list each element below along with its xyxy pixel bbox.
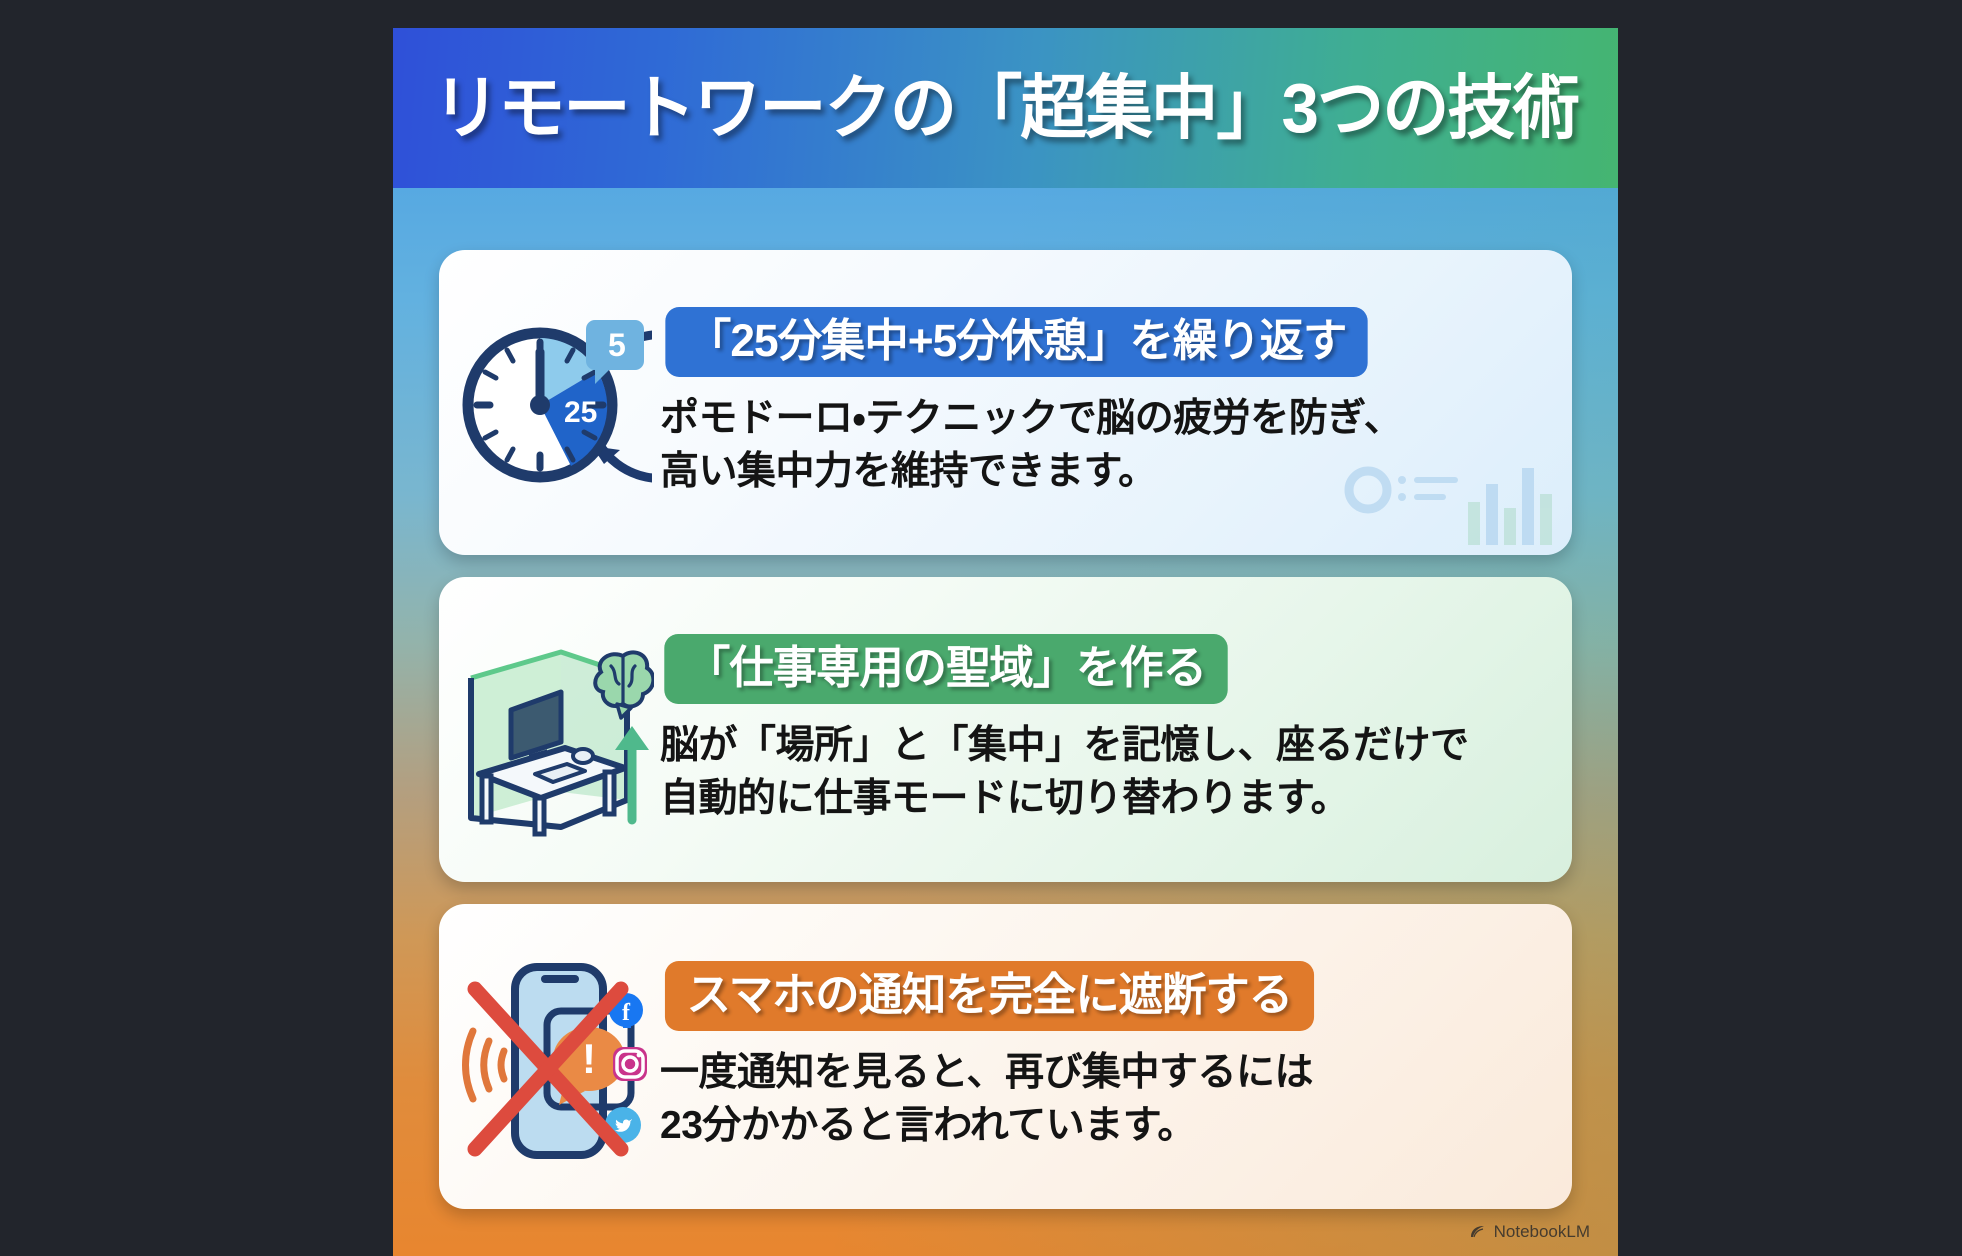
notebooklm-watermark: NotebookLM — [1469, 1222, 1590, 1242]
card-body: 「25分集中+5分休憩」を繰り返す ポモドーロ・テクニックで脳の疲労を防ぎ、 高… — [654, 307, 1572, 498]
pomodoro-timer-icon: 25 5 — [449, 273, 654, 533]
cards-container: 25 5 「25分集中+5分休憩」を繰り返す ポモドーロ・テクニックで脳の疲労を… — [393, 188, 1618, 1209]
blocked-phone-notifications-icon: ! f — [449, 927, 654, 1187]
timer-focus-label: 25 — [564, 396, 597, 429]
infographic-slide: リモートワークの「超集中」3つの技術 — [393, 28, 1618, 1256]
card-description: ポモドーロ・テクニックで脳の疲労を防ぎ、 高い集中力を維持できます。 — [660, 393, 1546, 498]
card-description: 脳が「場所」と「集中」を記憶し、座るだけで 自動的に仕事モードに切り替わります。 — [660, 720, 1546, 825]
title-banner: リモートワークの「超集中」3つの技術 — [393, 28, 1618, 188]
card-workspace[interactable]: 「仕事専用の聖域」を作る 脳が「場所」と「集中」を記憶し、座るだけで 自動的に仕… — [439, 577, 1572, 882]
svg-text:f: f — [622, 1000, 631, 1026]
card-body: 「仕事専用の聖域」を作る 脳が「場所」と「集中」を記憶し、座るだけで 自動的に仕… — [654, 634, 1572, 825]
watermark-label: NotebookLM — [1494, 1222, 1590, 1242]
card-pomodoro[interactable]: 25 5 「25分集中+5分休憩」を繰り返す ポモドーロ・テクニックで脳の疲労を… — [439, 250, 1572, 555]
card-heading: 「25分集中+5分休憩」を繰り返す — [665, 307, 1368, 377]
alert-label: ! — [582, 1035, 596, 1082]
card-heading: スマホの通知を完全に遮断する — [665, 961, 1314, 1031]
screenshot-viewer: リモートワークの「超集中」3つの技術 — [0, 0, 1962, 1256]
card-body: スマホの通知を完全に遮断する 一度通知を見ると、再び集中するには 23分かかると… — [654, 961, 1572, 1152]
card-description: 一度通知を見ると、再び集中するには 23分かかると言われています。 — [660, 1047, 1546, 1152]
dedicated-workspace-icon — [449, 600, 654, 860]
page-title: リモートワークの「超集中」3つの技術 — [433, 73, 1578, 143]
card-heading: 「仕事専用の聖域」を作る — [664, 634, 1227, 704]
notebooklm-logo-icon — [1469, 1224, 1487, 1240]
card-notifications[interactable]: ! f — [439, 904, 1572, 1209]
timer-break-label: 5 — [608, 327, 626, 363]
